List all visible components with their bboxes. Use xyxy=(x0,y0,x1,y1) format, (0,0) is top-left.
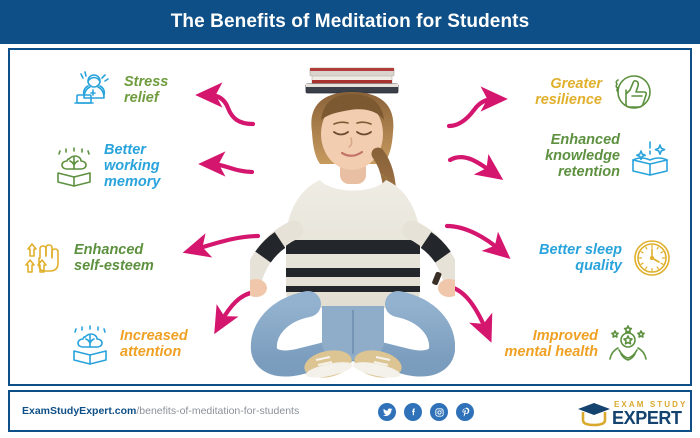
benefit-sleep-quality: Better sleep quality xyxy=(539,236,674,280)
meditating-student-photo xyxy=(250,54,455,384)
hands-stars-icon xyxy=(606,322,650,366)
open-book-sparkle-icon xyxy=(628,134,672,178)
arrow-working-memory xyxy=(212,164,252,172)
benefit-increased-attention: Increased attention xyxy=(68,322,188,366)
pinterest-icon[interactable] xyxy=(456,403,474,421)
arrow-stress-relief xyxy=(209,95,253,124)
benefit-label: Better working memory xyxy=(104,142,160,191)
brand-logo[interactable]: EXAM STUDY EXPERT xyxy=(576,397,688,429)
page-title: The Benefits of Meditation for Students xyxy=(0,0,700,44)
thumbs-up-circle-icon xyxy=(610,70,654,114)
infographic-poster: The Benefits of Meditation for Students xyxy=(0,0,700,438)
benefit-mental-health: Improved mental health xyxy=(505,322,650,366)
benefit-label: Better sleep quality xyxy=(539,242,622,274)
main-panel: Stress relief Better working memory xyxy=(8,48,692,386)
arrow-knowledge-retention xyxy=(450,157,492,172)
arrow-resilience xyxy=(449,99,494,126)
benefit-label: Increased attention xyxy=(120,328,188,360)
footer-url-domain: ExamStudyExpert.com xyxy=(22,405,136,417)
right-hand xyxy=(438,279,455,297)
brain-book-icon xyxy=(52,144,96,188)
brain-book-icon xyxy=(68,322,112,366)
benefit-label: Enhanced knowledge retention xyxy=(545,132,620,181)
benefit-working-memory: Better working memory xyxy=(52,142,160,191)
benefit-stress-relief: Stress relief xyxy=(72,68,168,112)
graduation-cap-icon xyxy=(576,401,612,427)
social-links xyxy=(378,403,498,423)
benefit-label: Stress relief xyxy=(124,74,168,106)
arrow-self-esteem xyxy=(196,236,258,249)
header-bar: The Benefits of Meditation for Students xyxy=(0,0,700,44)
benefit-label: Enhanced self-esteem xyxy=(74,242,154,274)
wall-clock-icon xyxy=(630,236,674,280)
twitter-icon[interactable] xyxy=(378,403,396,421)
logo-text-bottom: EXPERT xyxy=(612,408,682,429)
footer-url-path: /benefits-of-meditation-for-students xyxy=(136,405,299,417)
books-stack xyxy=(306,68,398,93)
benefit-knowledge-retention: Enhanced knowledge retention xyxy=(545,132,672,181)
footer-bar: ExamStudyExpert.com/benefits-of-meditati… xyxy=(8,390,692,432)
benefit-greater-resilience: Greater resilience xyxy=(535,70,654,114)
footer-url[interactable]: ExamStudyExpert.com/benefits-of-meditati… xyxy=(22,405,299,417)
facebook-icon[interactable] xyxy=(404,403,422,421)
raised-fist-arrows-icon xyxy=(22,236,66,280)
benefit-self-esteem: Enhanced self-esteem xyxy=(22,236,154,280)
stressed-person-laptop-icon xyxy=(72,68,116,112)
benefit-label: Improved mental health xyxy=(505,328,598,360)
instagram-icon[interactable] xyxy=(430,403,448,421)
benefit-label: Greater resilience xyxy=(535,76,602,108)
left-hand xyxy=(250,279,267,297)
